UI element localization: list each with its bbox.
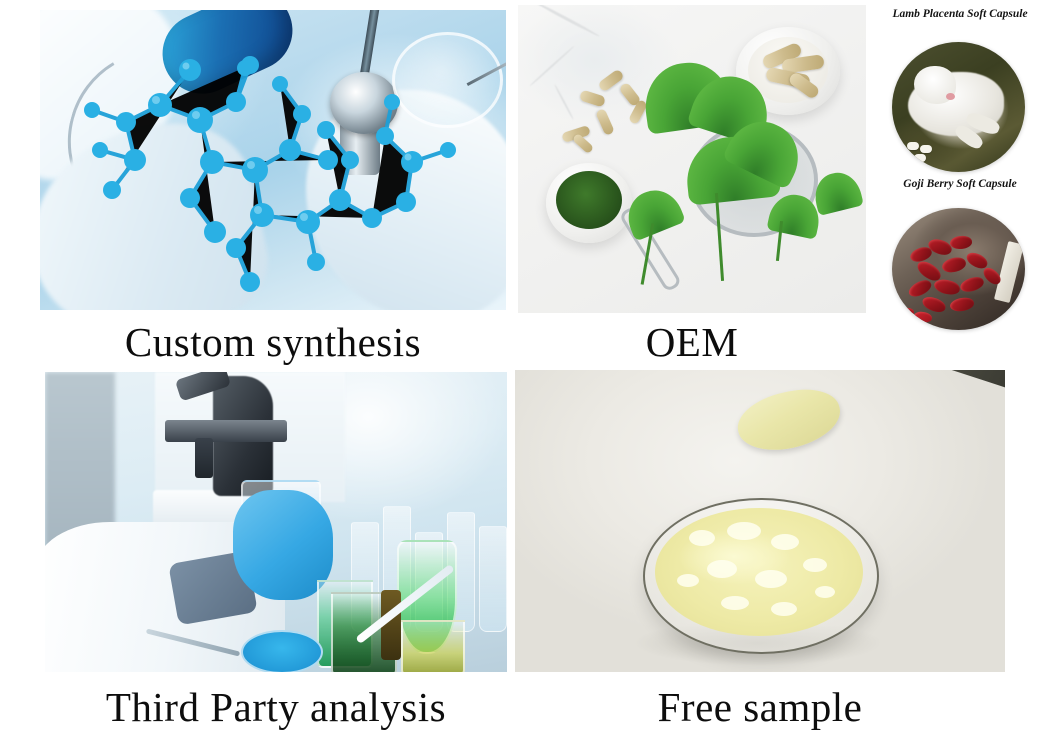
soft-capsule (894, 144, 906, 152)
petri-dish-blue (241, 630, 323, 672)
inset-photo-goji-berry (892, 208, 1025, 330)
goji-berry (933, 278, 961, 296)
powder-grain (771, 534, 799, 550)
microscope-stage-shape (165, 420, 287, 442)
goji-soft-capsule (913, 311, 932, 323)
ginkgo-leaf (810, 168, 864, 216)
powder-grain (771, 602, 797, 616)
goji-soft-capsule (895, 307, 914, 320)
soft-capsule-group (894, 142, 938, 164)
soft-capsule (900, 153, 912, 161)
photo-custom-synthesis (40, 10, 506, 310)
image-collage: Custom synthesis (0, 0, 1060, 755)
marble-vein (529, 45, 575, 87)
beaker-yellow (401, 620, 465, 672)
powder-grain (707, 560, 737, 578)
powder-bowl (546, 163, 632, 243)
molecule-model-graphic (40, 10, 506, 310)
goji-berry (959, 274, 986, 294)
knife-shape (994, 241, 1024, 303)
soft-capsule (907, 142, 919, 150)
marble-vein (532, 5, 601, 38)
goji-berry (949, 296, 975, 314)
spatula-scoop-powder (732, 382, 845, 458)
inset-photo-lamb-placenta (892, 42, 1025, 172)
photo-third-party-analysis (45, 372, 507, 672)
glass-tube (479, 526, 507, 632)
powder-grain (727, 522, 761, 540)
soft-capsule (920, 145, 932, 153)
inset-label-lamb-placenta: Lamb Placenta Soft Capsule (880, 8, 1040, 20)
soft-capsule (914, 154, 926, 162)
marble-vein (554, 84, 575, 120)
capsule (579, 89, 606, 107)
goji-berry (941, 255, 968, 275)
powder-grain (815, 586, 835, 598)
photo-oem (518, 5, 866, 313)
microscope-objective-shape (195, 438, 213, 478)
powder-grain (689, 530, 715, 546)
capsule (595, 108, 615, 136)
green-powder (556, 171, 622, 229)
caption-custom-synthesis: Custom synthesis (40, 318, 506, 366)
goji-berry (949, 235, 973, 251)
spatula-handle-shape (802, 370, 1005, 389)
powder-grain (755, 570, 787, 588)
photo-free-sample (515, 370, 1005, 672)
caption-free-sample: Free sample (515, 683, 1005, 731)
powder-grain (721, 596, 749, 610)
inset-label-goji-berry: Goji Berry Soft Capsule (880, 178, 1040, 190)
caption-third-party-analysis: Third Party analysis (45, 683, 507, 731)
lamb-nose-shape (946, 93, 955, 100)
yellow-powder-heap (655, 508, 863, 636)
caption-oem: OEM (518, 318, 866, 366)
powder-grain (803, 558, 827, 572)
powder-grain (677, 574, 699, 587)
